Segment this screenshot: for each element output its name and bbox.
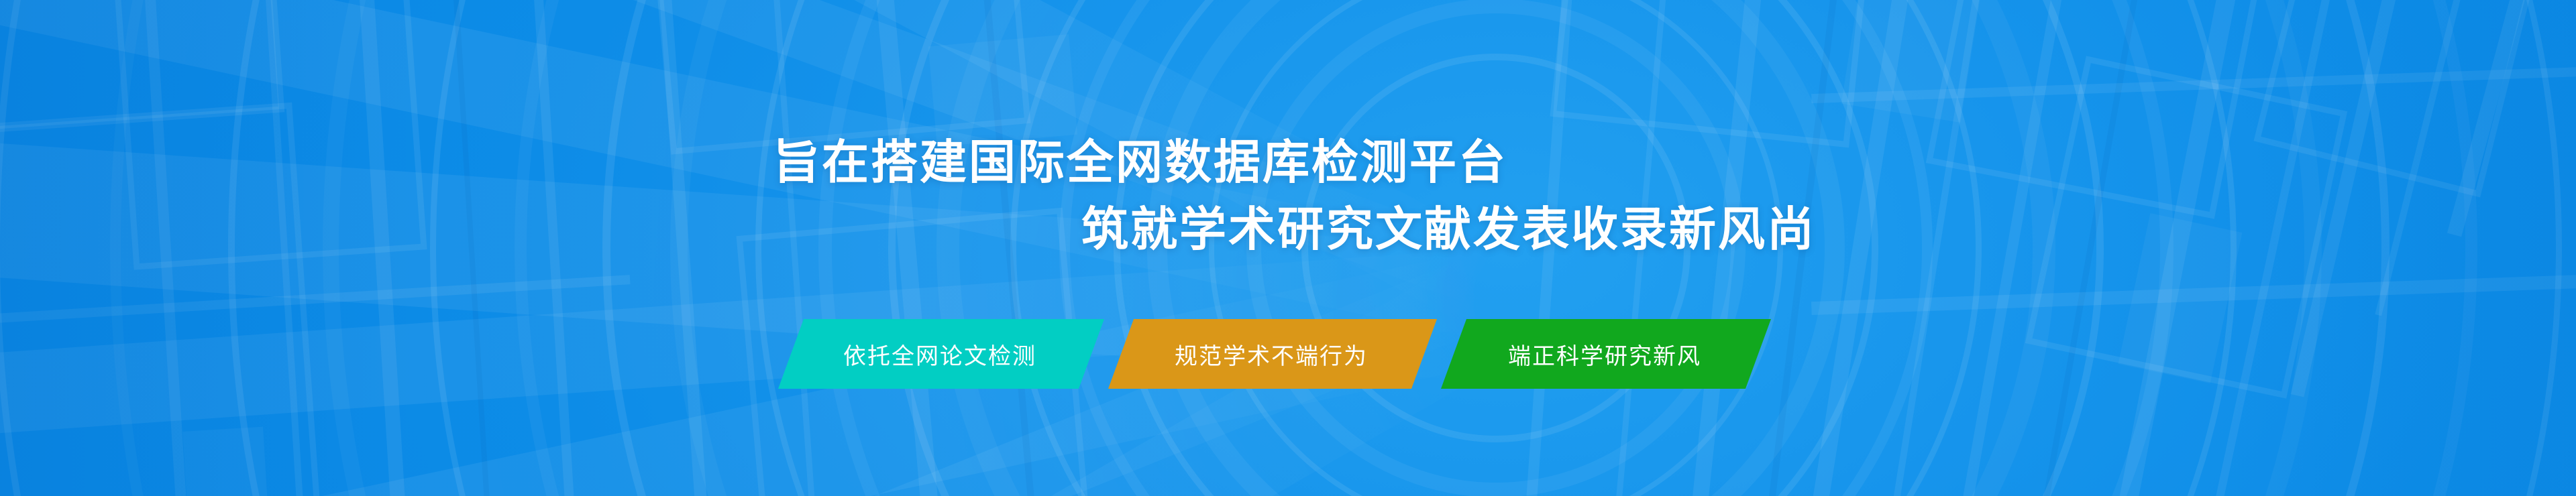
tag-research-ethos-label: 端正科学研究新风 [1508, 338, 1701, 371]
tag-paper-detection[interactable]: 依托全网论文检测 [778, 319, 1104, 389]
feature-tag-strip: 依托全网论文检测 规范学术不端行为 端正科学研究新风 [0, 319, 2576, 389]
tag-research-ethos[interactable]: 端正科学研究新风 [1441, 319, 1771, 389]
headline-line-2: 筑就学术研究文献发表收录新风尚 [1081, 206, 1816, 253]
tag-paper-detection-label: 依托全网论文检测 [843, 338, 1036, 371]
blueprint-rect [1550, 0, 1876, 147]
hero-banner: 旨在搭建国际全网数据库检测平台 筑就学术研究文献发表收录新风尚 依托全网论文检测… [0, 0, 2576, 496]
headline-line-1: 旨在搭建国际全网数据库检测平台 [773, 139, 1507, 186]
tag-academic-misconduct[interactable]: 规范学术不端行为 [1108, 319, 1437, 389]
tag-academic-misconduct-label: 规范学术不端行为 [1175, 338, 1368, 371]
